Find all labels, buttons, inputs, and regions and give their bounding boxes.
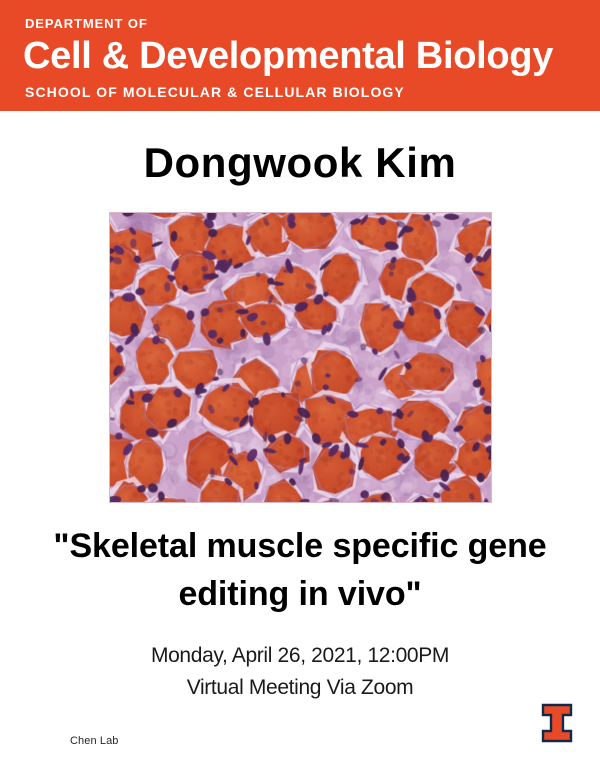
university-of-illinois-block-i-logo — [541, 703, 573, 743]
event-details: Monday, April 26, 2021, 12:00PM Virtual … — [0, 640, 600, 703]
department-title: Cell & Developmental Biology — [23, 36, 553, 77]
skeletal-muscle-histology-image — [109, 212, 492, 503]
lab-credit-label: Chen Lab — [70, 736, 119, 747]
department-header-banner: DEPARTMENT OF Cell & Developmental Biolo… — [0, 0, 600, 111]
school-subtitle: SCHOOL OF MOLECULAR & CELLULAR BIOLOGY — [25, 85, 405, 99]
talk-title-line-2: editing in vivo" — [178, 575, 421, 613]
event-datetime: Monday, April 26, 2021, 12:00PM — [0, 640, 600, 672]
department-eyebrow-label: DEPARTMENT OF — [25, 17, 148, 30]
event-location: Virtual Meeting Via Zoom — [0, 672, 600, 704]
histology-canvas — [110, 213, 491, 502]
block-i-icon — [541, 703, 573, 743]
speaker-name: Dongwook Kim — [0, 140, 600, 186]
talk-title: "Skeletal muscle specific gene editing i… — [25, 522, 575, 619]
talk-title-line-1: "Skeletal muscle specific gene — [53, 527, 546, 565]
